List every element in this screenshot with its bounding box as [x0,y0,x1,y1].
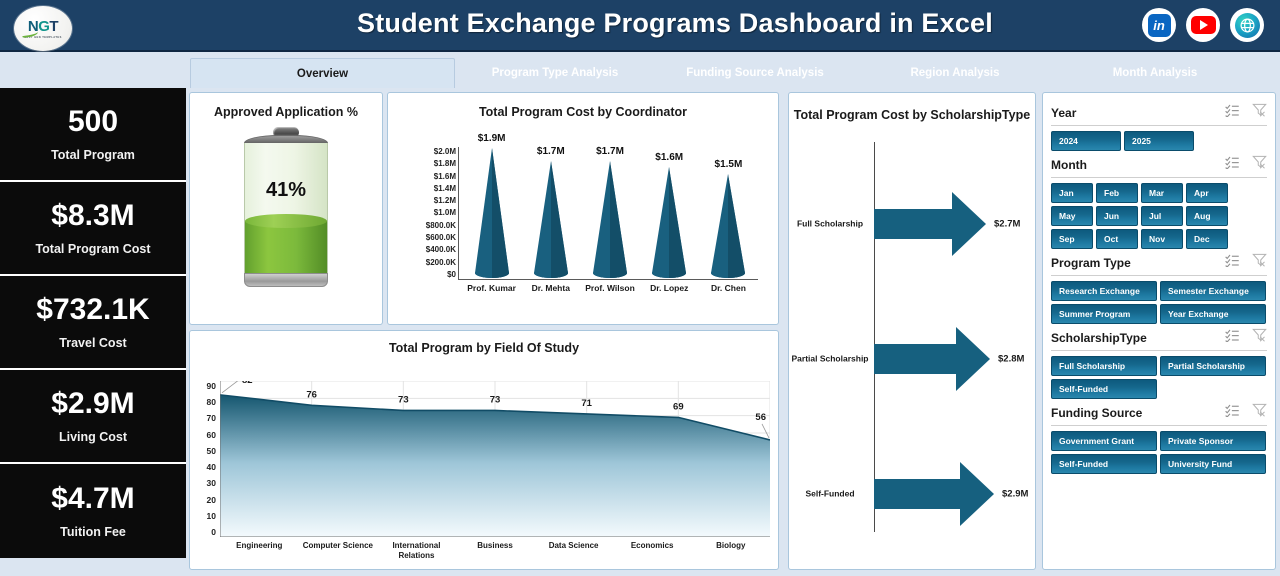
x-axis-category-labels: EngineeringComputer ScienceInternational… [220,541,770,561]
slicer-items: Full ScholarshipPartial ScholarshipSelf-… [1051,356,1267,399]
y-tick-label: 10 [194,511,216,521]
slicer-item-feb[interactable]: Feb [1096,183,1138,203]
slicer-title: ScholarshipType [1051,331,1147,345]
area-chart-plot: 9080706050403020100 82767373716956 Engin… [190,355,780,555]
brand-logo: NGT NEXT GEN TEMPLATES [14,6,72,51]
battery-fill-level [245,221,327,275]
y-tick-label: 30 [194,478,216,488]
tab-funding-source-analysis-label: Funding Source Analysis [686,67,824,79]
dashboard-header: NGT NEXT GEN TEMPLATES Student Exchange … [0,0,1280,52]
dashboard-root: NGT NEXT GEN TEMPLATES Student Exchange … [0,0,1280,576]
kpi-value: $8.3M [51,200,134,232]
slicer-item-jun[interactable]: Jun [1096,206,1138,226]
x-axis-category-labels: Prof. KumarDr. MehtaProf. WilsonDr. Lope… [462,283,758,293]
battery-body [244,143,328,275]
slicer-item-jul[interactable]: Jul [1141,206,1183,226]
x-tick-label: Biology [691,541,770,561]
x-tick-label: International Relations [377,541,456,561]
y-tick-label: 90 [194,381,216,391]
youtube-icon [1191,16,1216,34]
x-tick-label: Dr. Mehta [521,283,580,293]
slicer-item-may[interactable]: May [1051,206,1093,226]
slicer-items: 20242025 [1051,131,1267,151]
multi-select-icon[interactable] [1225,328,1240,347]
arrow-shape [874,192,988,256]
y-tick-label: 0 [194,527,216,537]
x-tick-label: Computer Science [299,541,378,561]
area-series-wrap: 82767373716956 [220,381,770,537]
kpi-column: 500 Total Program $8.3M Total Program Co… [0,88,186,570]
y-tick-label: $800.0K [394,221,456,230]
slicer-item-private-sponsor[interactable]: Private Sponsor [1160,431,1266,451]
y-axis-tick-labels: $2.0M$1.8M$1.6M$1.4M$1.2M$1.0M$800.0K$60… [394,147,456,279]
kpi-label: Tuition Fee [60,525,126,539]
slicer-item-dec[interactable]: Dec [1186,229,1228,249]
clear-filter-icon[interactable] [1252,328,1267,347]
svg-text:76: 76 [306,389,317,400]
chart-total-program-cost-by-scholarshiptype: Total Program Cost by ScholarshipType Fu… [788,92,1036,570]
cone-data-label: $1.5M [715,159,743,170]
youtube-play-triangle [1200,20,1208,30]
kpi-card-total-program: 500 Total Program [0,88,186,182]
x-tick-label: Prof. Wilson [580,283,639,293]
multi-select-icon[interactable] [1225,253,1240,272]
y-tick-label: 80 [194,397,216,407]
y-tick-label: $2.0M [394,147,456,156]
x-axis-line [458,279,758,280]
svg-text:69: 69 [673,401,684,412]
battery-graphic: 41% [242,127,330,287]
kpi-label: Total Program [51,148,135,162]
slicer-icon-group [1225,403,1267,422]
kpi-card-living-cost: $2.9M Living Cost [0,370,186,464]
kpi-card-tuition-fee: $4.7M Tuition Fee [0,464,186,558]
slicer-item-2025[interactable]: 2025 [1124,131,1194,151]
logo-letter-g: G [38,18,49,35]
cone-data-label: $1.7M [537,146,565,157]
arrow-data-label: $2.8M [998,353,1024,364]
clear-filter-icon[interactable] [1252,403,1267,422]
arrow-chart-plot: Full Scholarship$2.7MPartial Scholarship… [789,124,1037,544]
kpi-value: $4.7M [51,483,134,515]
social-links: in [1142,8,1264,42]
y-tick-label: 20 [194,495,216,505]
kpi-card-travel-cost: $732.1K Travel Cost [0,276,186,370]
slicer-item-apr[interactable]: Apr [1186,183,1228,203]
kpi-label: Travel Cost [59,336,126,350]
slicer-header-funding-source: Funding Source [1051,403,1267,422]
y-tick-label: $200.0K [394,258,456,267]
slicer-divider [1051,125,1267,126]
y-axis-line [458,147,459,279]
cone-chart-plot: $2.0M$1.8M$1.6M$1.4M$1.2M$1.0M$800.0K$60… [388,119,780,309]
slicer-item-semester-exchange[interactable]: Semester Exchange [1160,281,1266,301]
slicer-divider [1051,350,1267,351]
svg-text:71: 71 [581,398,592,409]
tab-overview[interactable]: Overview [190,58,455,88]
x-tick-label: Economics [613,541,692,561]
cone-bar: $1.5M [699,147,758,279]
linkedin-icon: in [1148,14,1171,37]
cone-bar: $1.9M [462,147,521,279]
y-tick-label: $1.2M [394,196,456,205]
slicer-item-jan[interactable]: Jan [1051,183,1093,203]
chart-title: Total Program by Field Of Study [190,341,778,355]
area-series-svg: 82767373716956 [220,381,770,537]
slicer-icon-group [1225,253,1267,272]
slicer-items: Government GrantPrivate SponsorSelf-Fund… [1051,431,1267,474]
youtube-button[interactable] [1186,8,1220,42]
slicer-header-month: Month [1051,155,1267,174]
tab-region-analysis-label: Region Analysis [910,67,999,79]
slicer-item-2024[interactable]: 2024 [1051,131,1121,151]
tab-program-type-analysis[interactable]: Program Type Analysis [455,58,655,88]
y-tick-label: $1.6M [394,172,456,181]
slicer-item-research-exchange[interactable]: Research Exchange [1051,281,1157,301]
slicer-item-nov[interactable]: Nov [1141,229,1183,249]
cone-shape [534,161,568,279]
slicer-divider [1051,425,1267,426]
chart-approved-application-percent: Approved Application % 41% [189,92,383,325]
slicer-panel: Year20242025MonthJanFebMarAprMayJunJulAu… [1042,92,1276,570]
cone-shape [711,174,745,279]
slicer-divider [1051,275,1267,276]
tab-month-analysis-label: Month Analysis [1113,67,1198,79]
clear-filter-icon[interactable] [1252,155,1267,174]
slicer-title: Year [1051,106,1076,120]
chart-title: Approved Application % [190,105,382,119]
chart-title: Total Program Cost by ScholarshipType [789,107,1035,124]
x-tick-label: Dr. Chen [699,283,758,293]
cone-data-label: $1.7M [596,146,624,157]
slicer-item-mar[interactable]: Mar [1141,183,1183,203]
slicer-item-year-exchange[interactable]: Year Exchange [1160,304,1266,324]
slicer-icon-group [1225,155,1267,174]
arrow-category-label: Partial Scholarship [789,353,871,364]
page-title: Student Exchange Programs Dashboard in E… [280,8,1070,39]
arrow-shape [874,327,992,391]
kpi-value: 500 [68,106,118,138]
website-button[interactable] [1230,8,1264,42]
kpi-label: Total Program Cost [35,242,150,256]
slicer-item-sep[interactable]: Sep [1051,229,1093,249]
slicer-title: Program Type [1051,256,1131,270]
slicer-header-year: Year [1051,103,1267,122]
battery-value-label: 41% [242,179,330,202]
arrow-bar-row: Self-Funded$2.9M [789,462,1037,526]
arrow-bar-row: Full Scholarship$2.7M [789,192,1037,256]
slicer-item-oct[interactable]: Oct [1096,229,1138,249]
y-tick-label: $1.4M [394,184,456,193]
slicer-title: Funding Source [1051,406,1142,420]
svg-text:56: 56 [755,412,766,423]
slicer-item-partial-scholarship[interactable]: Partial Scholarship [1160,356,1266,376]
y-tick-label: $600.0K [394,233,456,242]
arrow-category-label: Full Scholarship [789,218,871,229]
x-tick-label: Business [456,541,535,561]
y-tick-label: 50 [194,446,216,456]
slicer-divider [1051,177,1267,178]
chart-total-program-cost-by-coordinator: Total Program Cost by Coordinator $2.0M$… [387,92,779,325]
tab-funding-source-analysis[interactable]: Funding Source Analysis [655,58,855,88]
cone-bar: $1.6M [640,147,699,279]
battery-base [244,273,328,287]
slicer-item-government-grant[interactable]: Government Grant [1051,431,1157,451]
svg-text:73: 73 [490,394,501,405]
clear-filter-icon[interactable] [1252,103,1267,122]
y-tick-label: $400.0K [394,245,456,254]
arrow-data-label: $2.7M [994,218,1020,229]
kpi-value: $2.9M [51,388,134,420]
slicer-item-university-fund[interactable]: University Fund [1160,454,1266,474]
tab-program-type-analysis-label: Program Type Analysis [492,67,619,79]
multi-select-icon[interactable] [1225,103,1240,122]
cone-shape [475,148,509,279]
y-tick-label: $0 [394,270,456,279]
chart-total-program-by-field-of-study: Total Program by Field Of Study 90807060… [189,330,779,570]
arrow-category-label: Self-Funded [789,488,871,499]
kpi-value: $732.1K [36,294,149,326]
tab-bar: Overview Program Type Analysis Funding S… [190,58,1280,88]
tab-overview-label: Overview [297,68,348,80]
cone-data-label: $1.6M [655,152,683,163]
chart-title: Total Program Cost by Coordinator [388,105,778,119]
multi-select-icon[interactable] [1225,155,1240,174]
battery-gauge: 41% [190,119,382,299]
slicer-item-self-funded[interactable]: Self-Funded [1051,454,1157,474]
slicer-header-program-type: Program Type [1051,253,1267,272]
cone-shape [652,167,686,279]
y-axis-tick-labels: 9080706050403020100 [194,381,216,537]
kpi-card-total-program-cost: $8.3M Total Program Cost [0,182,186,276]
y-tick-label: $1.8M [394,159,456,168]
x-tick-label: Engineering [220,541,299,561]
linkedin-button[interactable]: in [1142,8,1176,42]
arrow-data-label: $2.9M [1002,488,1028,499]
multi-select-icon[interactable] [1225,403,1240,422]
clear-filter-icon[interactable] [1252,253,1267,272]
y-tick-label: 70 [194,413,216,423]
slicer-item-self-funded[interactable]: Self-Funded [1051,379,1157,399]
tab-region-analysis[interactable]: Region Analysis [855,58,1055,88]
svg-text:73: 73 [398,394,409,405]
y-tick-label: 60 [194,430,216,440]
y-tick-label: 40 [194,462,216,472]
slicer-header-scholarshiptype: ScholarshipType [1051,328,1267,347]
slicer-item-aug[interactable]: Aug [1186,206,1228,226]
x-tick-label: Prof. Kumar [462,283,521,293]
slicer-item-summer-program[interactable]: Summer Program [1051,304,1157,324]
kpi-label: Living Cost [59,430,127,444]
cone-shape [593,161,627,279]
x-tick-label: Data Science [534,541,613,561]
cone-bar-series: $1.9M$1.7M$1.7M$1.6M$1.5M [462,147,758,279]
slicer-icon-group [1225,103,1267,122]
logo-letter-t: T [49,18,58,35]
tab-month-analysis[interactable]: Month Analysis [1055,58,1255,88]
slicer-items: JanFebMarAprMayJunJulAugSepOctNovDec [1051,183,1267,249]
y-tick-label: $1.0M [394,208,456,217]
arrow-bar-row: Partial Scholarship$2.8M [789,327,1037,391]
slicer-items: Research ExchangeSemester ExchangeSummer… [1051,281,1267,324]
cone-bar: $1.7M [580,147,639,279]
cone-bar: $1.7M [521,147,580,279]
slicer-icon-group [1225,328,1267,347]
svg-text:82: 82 [242,381,253,386]
globe-icon [1235,13,1260,38]
slicer-title: Month [1051,158,1087,172]
slicer-item-full-scholarship[interactable]: Full Scholarship [1051,356,1157,376]
x-tick-label: Dr. Lopez [640,283,699,293]
cone-data-label: $1.9M [478,133,506,144]
arrow-shape [874,462,996,526]
